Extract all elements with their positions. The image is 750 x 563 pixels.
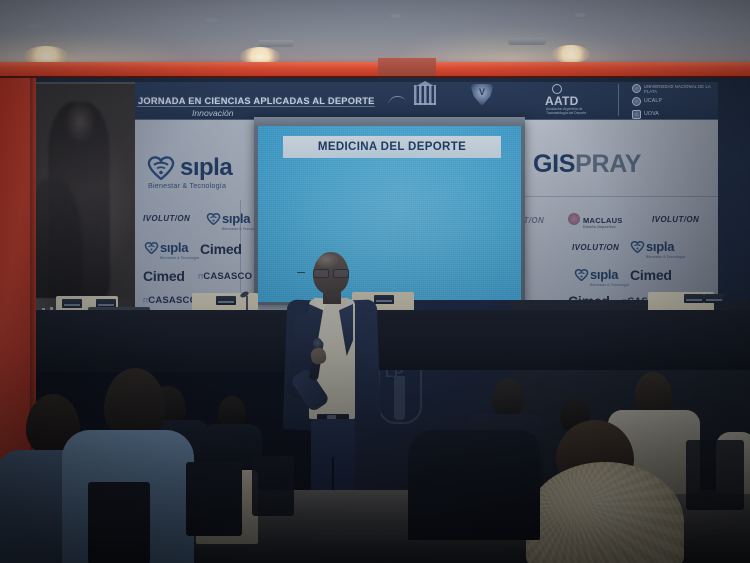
banner-divider bbox=[618, 84, 619, 116]
university-label: UNIVERSIDAD NACIONAL DE LA PLATA bbox=[644, 85, 712, 94]
banner-underline bbox=[137, 106, 375, 107]
university-logo-item: UNIVERSIDAD NACIONAL DE LA PLATA bbox=[632, 84, 712, 95]
stage-base bbox=[36, 310, 750, 370]
glasses-icon bbox=[313, 269, 349, 276]
audience-chair bbox=[88, 482, 150, 563]
university-label: UCALP bbox=[644, 99, 662, 104]
building-crest-logo-icon bbox=[414, 85, 436, 105]
smoke-detector-icon bbox=[390, 14, 401, 18]
audience-body bbox=[408, 430, 540, 540]
slide-title: MEDICINA DEL DEPORTE bbox=[318, 141, 466, 153]
uova-seal-icon bbox=[632, 110, 641, 119]
university-label: UOVA bbox=[644, 112, 659, 117]
speaker-head-highlight bbox=[317, 254, 339, 268]
aatd-name: AATD bbox=[545, 94, 579, 108]
smoke-detector-icon bbox=[575, 13, 586, 17]
audience-head bbox=[492, 378, 524, 418]
crest-bar bbox=[394, 376, 405, 420]
conference-room-photo: JORNADA EN CIENCIAS APLICADAS AL DEPORTE… bbox=[0, 0, 750, 563]
smoke-detector-icon bbox=[28, 24, 42, 29]
ceiling-vent-icon bbox=[258, 40, 294, 47]
aatd-subtitle: Asociación Argentina de Traumatología de… bbox=[546, 107, 604, 116]
audience-chair bbox=[686, 440, 744, 510]
ceiling-vent-icon bbox=[508, 38, 546, 45]
smoke-detector-icon bbox=[206, 18, 218, 22]
projection-screen-top-bar bbox=[254, 117, 525, 126]
ucalp-seal-icon bbox=[632, 97, 641, 106]
chair-tag bbox=[684, 294, 704, 303]
mural-figure bbox=[30, 179, 82, 309]
audience-chair bbox=[252, 456, 294, 516]
aatd-circle-icon bbox=[552, 84, 562, 94]
university-logo-row: UNIVERSIDAD NACIONAL DE LA PLATA UCALP U… bbox=[632, 84, 712, 123]
aatd-logo: AATD Asociación Argentina de Traumatolog… bbox=[545, 84, 605, 116]
downlight-icon bbox=[552, 45, 590, 63]
banner-title: JORNADA EN CIENCIAS APLICADAS AL DEPORTE bbox=[138, 96, 375, 106]
glasses-bridge bbox=[297, 272, 305, 273]
chair-tag bbox=[704, 294, 724, 303]
chair-tag bbox=[62, 299, 82, 308]
university-seal-icon bbox=[632, 84, 641, 93]
university-logo-item: UCALP bbox=[632, 97, 712, 108]
chair-tag bbox=[216, 296, 236, 305]
audience-chair bbox=[186, 462, 242, 536]
banner-subtitle: Innovación bbox=[192, 108, 234, 118]
slide-title-box: MEDICINA DEL DEPORTE bbox=[283, 136, 501, 158]
